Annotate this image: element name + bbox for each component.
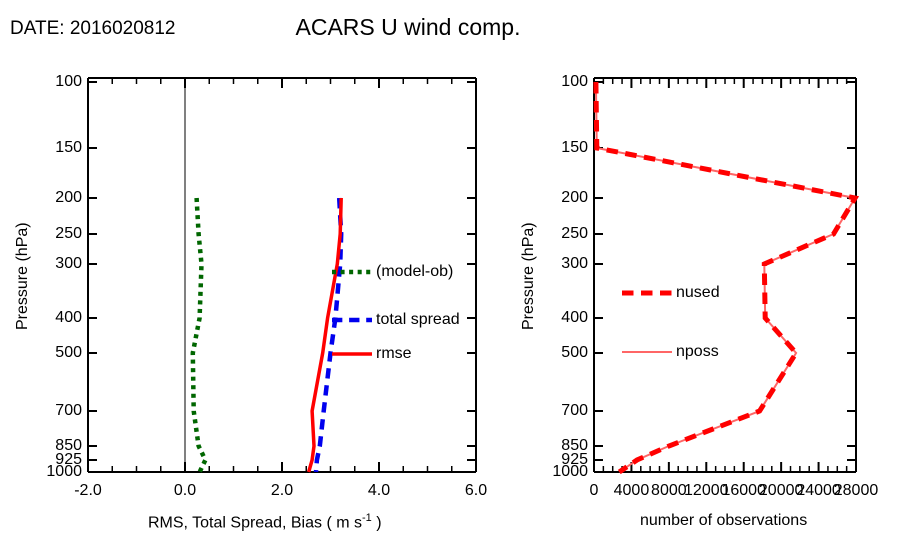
right-y-tick-label: 200	[542, 189, 588, 207]
left-y-tick-label: 300	[36, 255, 82, 273]
right-series-nused	[596, 82, 855, 472]
left-y-tick-label: 1000	[36, 463, 82, 481]
right-legend-label-nposs: nposs	[676, 343, 719, 361]
right-x-tick-label: 0	[590, 482, 599, 500]
right-y-tick-label: 250	[542, 225, 588, 243]
right-y-tick-label: 1000	[542, 463, 588, 481]
right-x-tick-label: 28000	[834, 482, 879, 500]
right-y-tick-label: 100	[542, 73, 588, 91]
right-x-tick-label: 4000	[614, 482, 650, 500]
right-y-tick-label: 400	[542, 309, 588, 327]
left-legend-label-total-spread: total spread	[376, 311, 460, 329]
right-series-nposs	[596, 82, 855, 472]
left-legend-label-rmse: rmse	[376, 345, 412, 363]
right-axes	[594, 78, 856, 472]
left-y-tick-label: 150	[36, 139, 82, 157]
left-y-tick-label: 250	[36, 225, 82, 243]
left-x-tick-label: 4.0	[368, 482, 390, 500]
left-y-tick-label: 200	[36, 189, 82, 207]
left-y-tick-label: 700	[36, 402, 82, 420]
left-x-tick-label: 6.0	[465, 482, 487, 500]
right-y-tick-label: 150	[542, 139, 588, 157]
right-y-tick-label: 700	[542, 402, 588, 420]
left-x-tick-label: 0.0	[174, 482, 196, 500]
right-y-tick-label: 500	[542, 344, 588, 362]
right-x-tick-label: 8000	[651, 482, 687, 500]
left-y-tick-label: 100	[36, 73, 82, 91]
left-x-tick-label: 2.0	[271, 482, 293, 500]
right-legend-label-nused: nused	[676, 284, 720, 302]
left-y-tick-label: 400	[36, 309, 82, 327]
right-y-tick-label: 300	[542, 255, 588, 273]
left-legend-label--model-ob-: (model-ob)	[376, 263, 453, 281]
left-x-tick-label: -2.0	[74, 482, 102, 500]
left-y-tick-label: 500	[36, 344, 82, 362]
